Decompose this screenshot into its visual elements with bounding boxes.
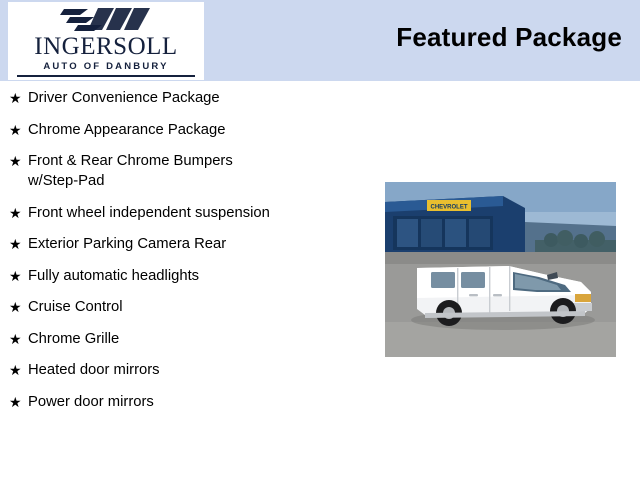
list-item: ★ Exterior Parking Camera Rear [6,234,378,254]
list-item-label: Power door mirrors [28,392,154,412]
list-item: ★ Chrome Appearance Package [6,120,378,140]
list-item: ★ Power door mirrors [6,392,378,412]
star-icon: ★ [6,297,28,317]
logo-divider [17,75,195,77]
vehicle-photo: CHEVROLET [385,182,616,357]
star-icon: ★ [6,88,28,108]
list-item-label: Chrome Grille [28,329,119,349]
list-item: ★ Fully automatic headlights [6,266,378,286]
dealer-sign-text: CHEVROLET [430,205,467,211]
list-item-label: Heated door mirrors [28,360,160,380]
list-item: ★ Heated door mirrors [6,360,378,380]
list-item-label: Exterior Parking Camera Rear [28,234,226,254]
star-icon: ★ [6,120,28,140]
list-item: ★ Chrome Grille [6,329,378,349]
star-icon: ★ [6,203,28,223]
header-band: INGERSOLL AUTO OF DANBURY Featured Packa… [0,0,640,81]
logo-name: INGERSOLL [34,34,177,60]
star-icon: ★ [6,266,28,286]
feature-list: ★ Driver Convenience Package ★ Chrome Ap… [6,88,378,423]
list-item: ★ Front wheel independent suspension [6,203,378,223]
list-item-label: Fully automatic headlights [28,266,199,286]
dealer-logo: INGERSOLL AUTO OF DANBURY [8,2,204,80]
star-icon: ★ [6,329,28,349]
ingersoll-chevron-logo-icon [58,6,154,32]
star-icon: ★ [6,151,28,171]
featured-package-slide: INGERSOLL AUTO OF DANBURY Featured Packa… [0,0,640,480]
list-item: ★ Cruise Control [6,297,378,317]
list-item-label: Driver Convenience Package [28,88,220,108]
list-item-label: Front wheel independent suspension [28,203,270,223]
list-item-label: Cruise Control [28,297,123,317]
list-item-label: Front & Rear Chrome Bumpers w/Step-Pad [28,151,233,191]
logo-subtitle: AUTO OF DANBURY [43,61,168,72]
star-icon: ★ [6,234,28,254]
list-item: ★ Front & Rear Chrome Bumpers w/Step-Pad [6,151,378,191]
star-icon: ★ [6,392,28,412]
list-item-label: Chrome Appearance Package [28,120,225,140]
page-title: Featured Package [396,22,622,53]
list-item: ★ Driver Convenience Package [6,88,378,108]
star-icon: ★ [6,360,28,380]
